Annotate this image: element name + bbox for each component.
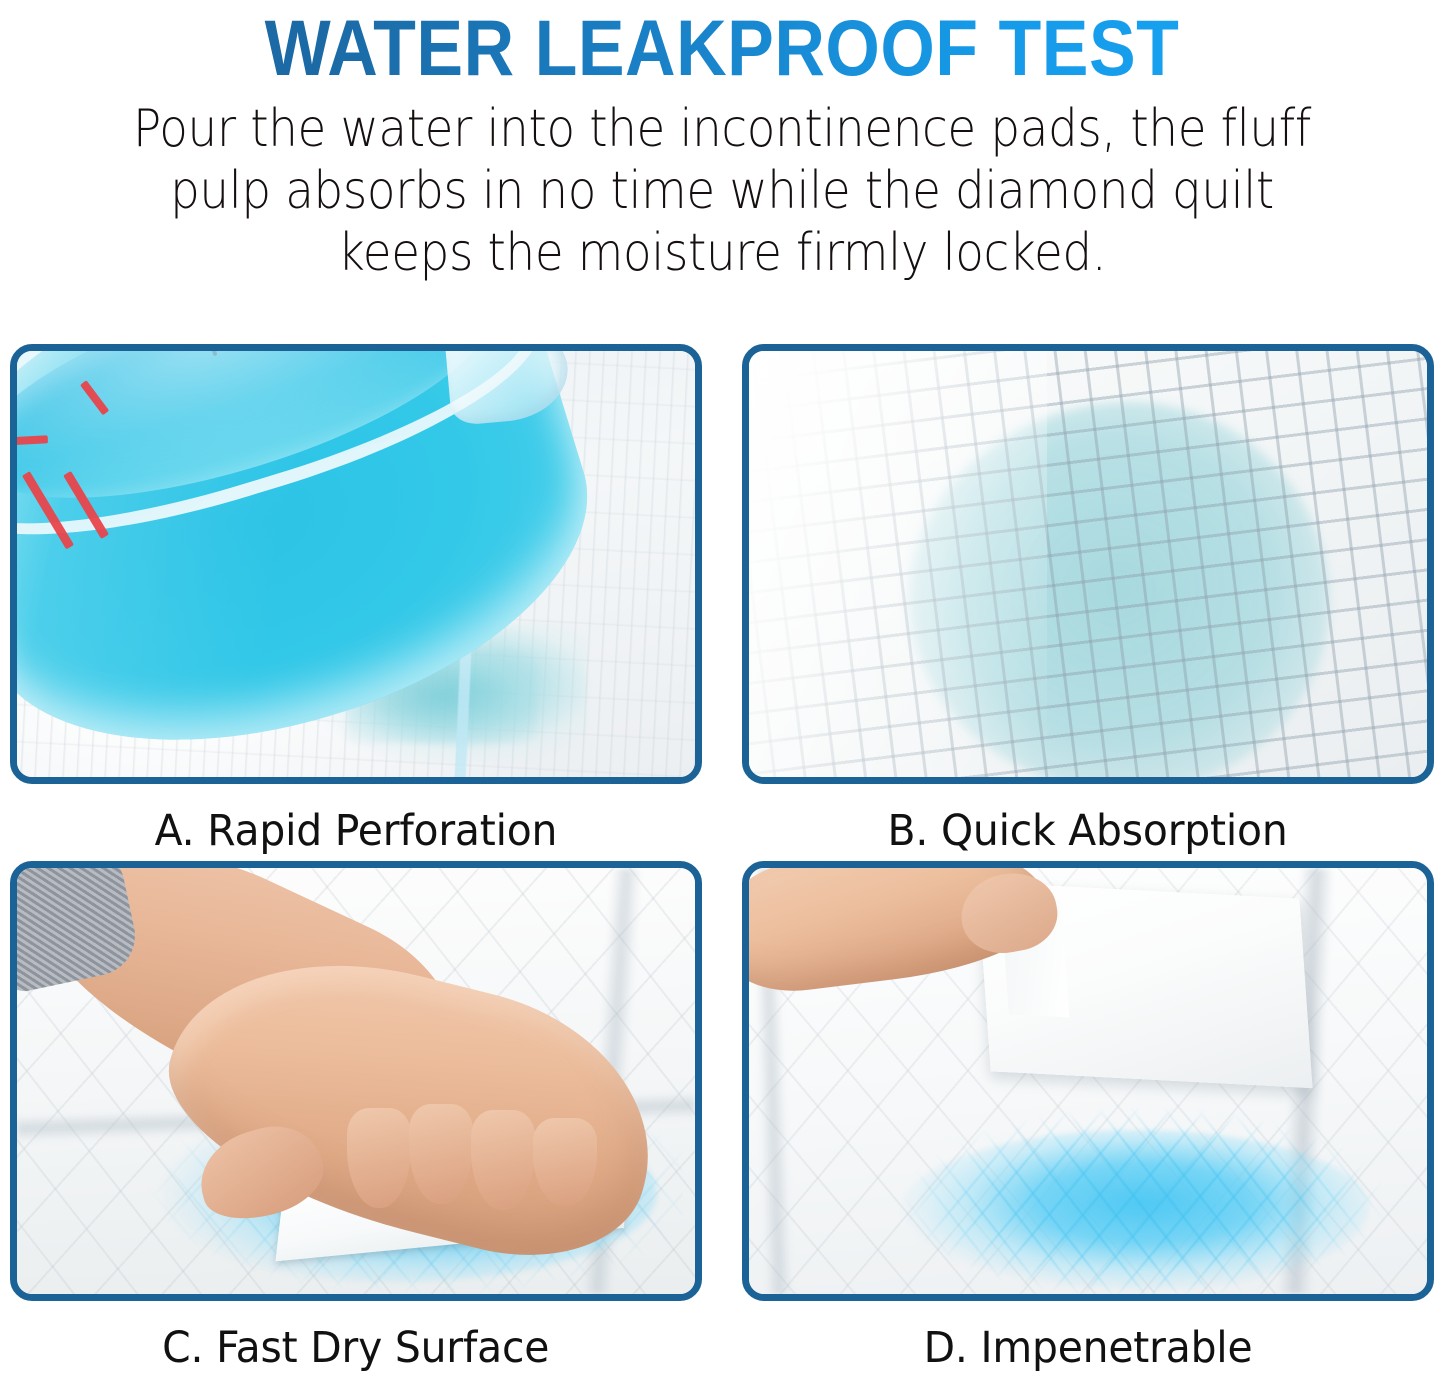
panel-b-photo <box>742 344 1434 784</box>
blue-stain-quilt-fringe <box>875 1108 1395 1301</box>
panel-a: A. Rapid Perforation <box>0 344 712 856</box>
page-title: WATER LEAKPROOF TEST <box>0 2 1444 94</box>
panel-a-photo <box>10 344 702 784</box>
panel-d-photo <box>742 861 1434 1301</box>
panel-c: C. Fast Dry Surface <box>0 861 712 1373</box>
panel-b-caption: B. Quick Absorption <box>888 806 1288 856</box>
panel-b: B. Quick Absorption <box>732 344 1444 856</box>
header: WATER LEAKPROOF TEST Pour the water into… <box>0 0 1444 284</box>
panel-a-caption: A. Rapid Perforation <box>155 806 558 856</box>
panel-d: D. Impenetrable <box>732 861 1444 1373</box>
light-sheen <box>749 351 1047 777</box>
panel-c-caption: C. Fast Dry Surface <box>162 1323 549 1373</box>
panel-d-caption: D. Impenetrable <box>924 1323 1253 1373</box>
panel-row-bottom: C. Fast Dry Surface D. Impenetrable <box>0 861 1444 1373</box>
fingers <box>347 1104 647 1210</box>
test-panel-grid: A. Rapid Perforation B. Quick Absorption <box>0 344 1444 1373</box>
panel-c-photo <box>10 861 702 1301</box>
panel-row-top: A. Rapid Perforation B. Quick Absorption <box>0 344 1444 856</box>
page-subtitle: Pour the water into the incontinence pad… <box>119 98 1325 284</box>
